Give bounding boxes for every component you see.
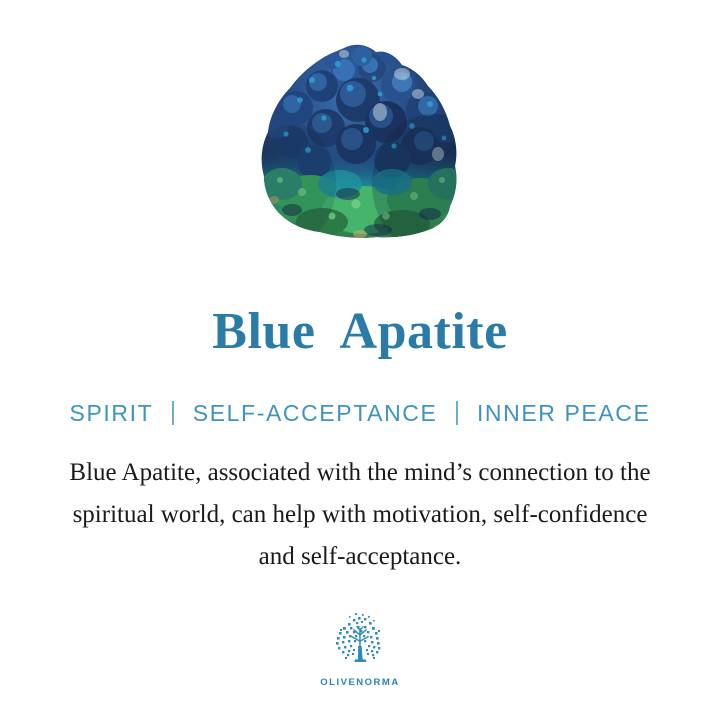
keyword-self-acceptance: SELF-ACCEPTANCE xyxy=(193,398,438,428)
brand-name: OLIVENORMA xyxy=(320,677,399,688)
keyword-separator-icon xyxy=(172,401,174,425)
stone-title: Blue Apatite xyxy=(0,303,720,361)
specimen-body xyxy=(252,34,468,244)
stone-description: Blue Apatite, associated with the mind’s… xyxy=(34,452,686,578)
keyword-separator-icon xyxy=(456,401,458,425)
description-line: and self-acceptance. xyxy=(34,536,686,578)
blue-apatite-specimen-image xyxy=(252,34,468,244)
description-line: spiritual world, can help with motivatio… xyxy=(34,494,686,536)
brand-logo: OLIVENORMA xyxy=(0,612,720,688)
specimen-image-container xyxy=(0,34,720,259)
product-info-card: Blue Apatite SPIRIT SELF-ACCEPTANCE INNE… xyxy=(0,0,720,720)
keyword-inner-peace: INNER PEACE xyxy=(477,398,651,428)
description-line: Blue Apatite, associated with the mind’s… xyxy=(34,452,686,494)
keyword-spirit: SPIRIT xyxy=(70,398,154,428)
keyword-list: SPIRIT SELF-ACCEPTANCE INNER PEACE xyxy=(0,398,720,428)
tree-icon xyxy=(328,612,392,674)
